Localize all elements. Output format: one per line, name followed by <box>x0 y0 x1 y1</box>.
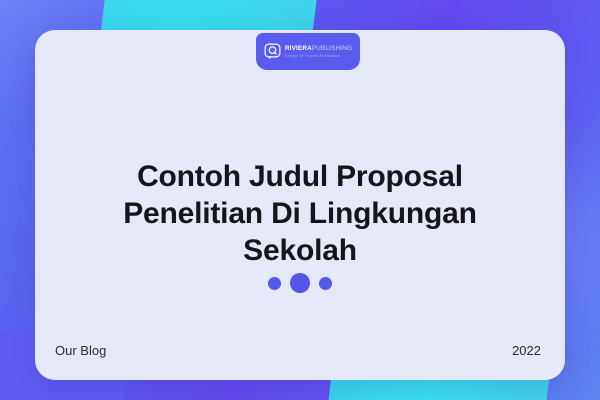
dot-separator <box>35 273 565 293</box>
brand-name-bold: RIVIERA <box>285 45 312 52</box>
brand-logo-text: RIVIERAPUBLISHING Energy Of Trusted Publ… <box>285 46 352 58</box>
footer-label-our-blog: Our Blog <box>55 343 106 358</box>
brand-tagline: Energy Of Trusted Publication <box>285 54 352 58</box>
content-card: RIVIERAPUBLISHING Energy Of Trusted Publ… <box>35 30 565 380</box>
dot-large-center <box>290 273 310 293</box>
brand-logo-badge: RIVIERAPUBLISHING Energy Of Trusted Publ… <box>256 33 360 70</box>
dot-small-right <box>319 277 332 290</box>
card-footer: Our Blog 2022 <box>55 343 541 358</box>
poster-canvas: RIVIERAPUBLISHING Energy Of Trusted Publ… <box>0 0 600 400</box>
brand-name-light: PUBLISHING <box>312 45 352 52</box>
footer-label-year: 2022 <box>512 343 541 358</box>
brand-name: RIVIERAPUBLISHING <box>285 46 352 52</box>
page-title: Contoh Judul Proposal Penelitian Di Ling… <box>65 158 535 270</box>
dot-small-left <box>268 277 281 290</box>
speech-bubble-q-icon <box>264 43 281 60</box>
